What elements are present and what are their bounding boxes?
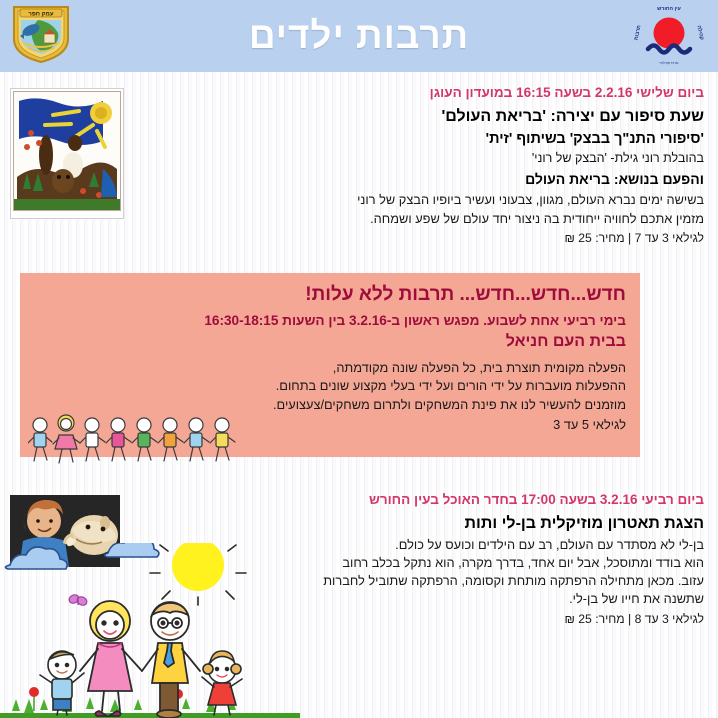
event-1-body-line: בשישה ימים נברא העולם, מגוון, צבעוני ועש… (138, 191, 704, 209)
page-title: תרבות ילדים (249, 15, 469, 57)
event-1-image-frame (10, 88, 124, 219)
event-1-body-line: מזמין אתכם לחוויה ייחודית בה ניצור יחד ע… (138, 210, 704, 228)
svg-text:קהילה: קהילה (696, 25, 706, 42)
actor-with-dog-puppet-photo (10, 495, 120, 567)
event-2-body-line: שתשנה את חייו של בן-לי. (134, 590, 704, 608)
event-2-title: הצגת תאטרון מוזיקלית בן-לי ותות (134, 513, 704, 535)
pink-heading: חדש...חדש...חדש... תרבות ללא עלות! (34, 283, 626, 308)
pink-body-line: הפעלה מקומית תוצרת בית, כל הפעלה שונה מק… (34, 359, 626, 378)
pink-body-line: מוזמנים להעשיר לנו את פינת המשחקים ולתרו… (34, 396, 626, 415)
event-2-body-line: בן-לי לא מסתדר עם העולם, רב עם הילדים וכ… (134, 536, 704, 554)
svg-text:עין החורש: עין החורש (657, 6, 681, 12)
free-culture-section: חדש...חדש...חדש... תרבות ללא עלות! בימי … (0, 273, 718, 457)
dough-artwork-illustration (13, 91, 121, 211)
pink-pricing: לגילאי 5 עד 3 (34, 416, 626, 435)
event-1-pricing: לגילאי 3 עד 7 | מחיר: 25 ₪ (138, 229, 704, 247)
event-1-image (10, 88, 124, 259)
emek-hefer-logo-icon: עמק חפר (8, 3, 74, 65)
page-background: עמק חפר תרבות ילדים עין החורש תרבות קהיל… (0, 0, 718, 718)
pink-place: בבית העם חניאל (34, 331, 626, 353)
event-1-datetime: ביום שלישי 2.2.16 בשעה 16:15 במועדון העו… (138, 84, 704, 102)
event-block-1: ביום שלישי 2.2.16 בשעה 16:15 במועדון העו… (0, 72, 718, 263)
pink-subheading: בימי רביעי אחת לשבוע. מפגש ראשון ב-3.2.1… (34, 311, 626, 330)
event-block-2: ביום רביעי 3.2.16 בשעה 17:00 בחדר האוכל … (0, 483, 718, 644)
event-1-text: ביום שלישי 2.2.16 בשעה 16:15 במועדון העו… (130, 84, 708, 259)
ein-hahoresh-logo-icon: עין החורש תרבות קהילה מרכז קהילתי (628, 3, 710, 67)
event-2-datetime: ביום רביעי 3.2.16 בשעה 17:00 בחדר האוכל … (134, 491, 704, 509)
svg-text:תרבות: תרבות (634, 24, 643, 40)
event-1-subtitle: 'סיפורי התנ"ך בבצק' בשיתוף 'זית' (138, 129, 704, 149)
pink-body-line: ההפעלות מועברות על ידי הורים ועל ידי בעל… (34, 377, 626, 396)
svg-text:מרכז קהילתי: מרכז קהילתי (660, 61, 679, 65)
event-2-body-line: הוא בודד ומתוסכל, אבל יום אחד, בדרך מקרה… (134, 554, 704, 572)
event-1-byline: בהובלת רוני גילת- 'הבצק של רוני' (138, 150, 704, 168)
svg-text:עמק חפר: עמק חפר (28, 12, 53, 18)
event-2-pricing: לגילאי 3 עד 8 | מחיר: 25 ₪ (134, 610, 704, 628)
event-1-topic: והפעם בנושא: בריאת העולם (138, 170, 704, 190)
event-2-image (10, 495, 120, 640)
pink-highlight-box: חדש...חדש...חדש... תרבות ללא עלות! בימי … (20, 273, 640, 457)
event-2-body-line: עזוב. מכאן מתחילה הרפתקה מותחת וקסומה, ה… (134, 572, 704, 590)
page-header: עמק חפר תרבות ילדים עין החורש תרבות קהיל… (0, 0, 718, 72)
event-1-title: שעת סיפור עם יצירה: 'בריאת העולם' (138, 106, 704, 128)
event-2-text: ביום רביעי 3.2.16 בשעה 17:00 בחדר האוכל … (126, 491, 708, 640)
